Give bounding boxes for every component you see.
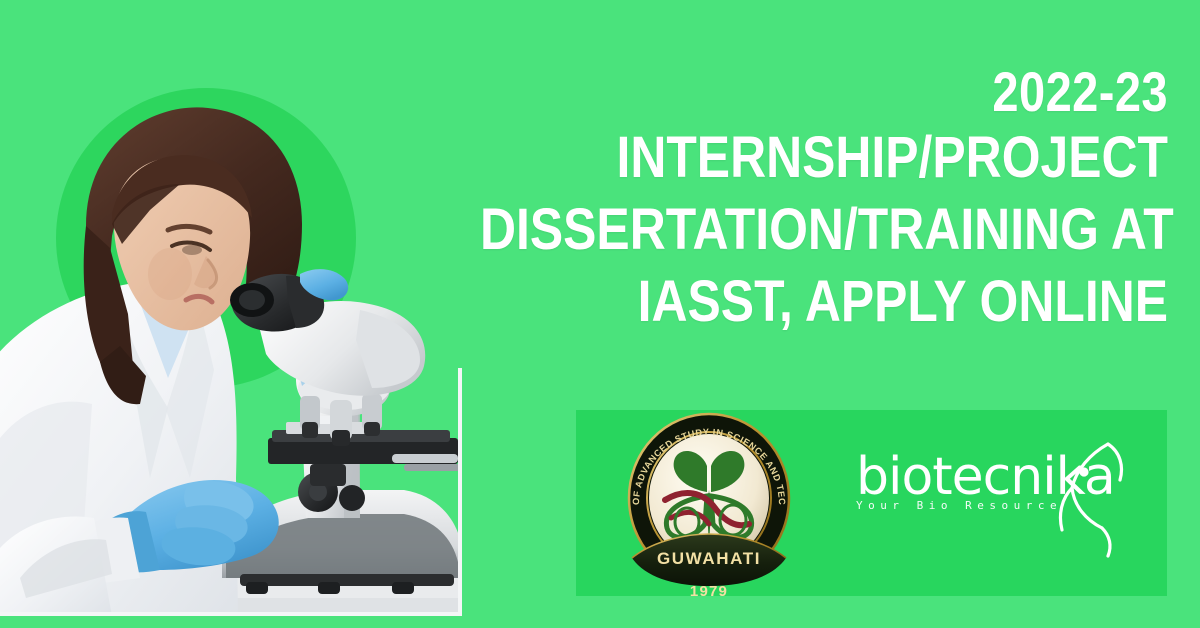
academic-year-text: 2022-23 xyxy=(496,62,1168,122)
headline-block: 2022-23 INTERNSHIP/PROJECT DISSERTATION/… xyxy=(368,62,1168,338)
iasst-logo: INSTITUTE OF ADVANCED STUDY IN SCIENCE A… xyxy=(614,406,804,600)
iasst-city-text: GUWAHATI xyxy=(657,549,761,568)
banner-root: 2022-23 INTERNSHIP/PROJECT DISSERTATION/… xyxy=(0,0,1200,628)
biotecnika-wordmark: biotecnika xyxy=(856,450,1146,504)
iasst-year-text: 1979 xyxy=(690,583,728,600)
headline-line-1: INTERNSHIP/PROJECT xyxy=(480,122,1168,194)
headline-line-3: IASST, APPLY ONLINE xyxy=(480,266,1168,338)
headline-line-2: DISSERTATION/TRAINING AT xyxy=(480,194,1168,266)
logo-panel: INSTITUTE OF ADVANCED STUDY IN SCIENCE A… xyxy=(576,410,1167,596)
biotecnika-tagline: Your Bio Resource xyxy=(856,498,1146,514)
biotecnika-logo: biotecnika Your Bio Resource xyxy=(856,450,1146,558)
